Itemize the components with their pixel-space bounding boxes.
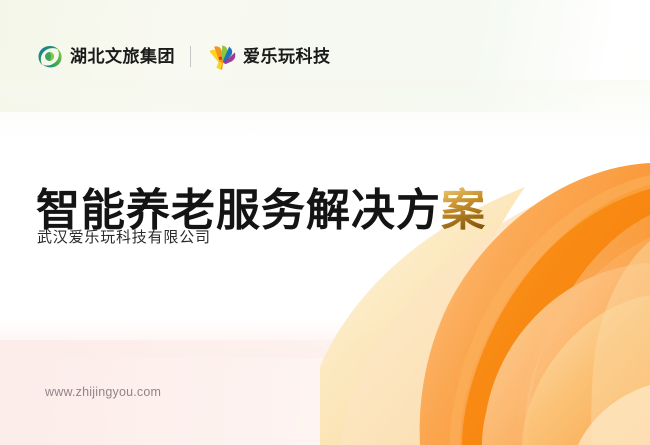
page-title-accent-char: 案 <box>441 186 486 235</box>
hubei-culture-tourism-logo: 湖北文旅集团 <box>36 43 175 70</box>
ailewan-bird-icon <box>206 42 236 70</box>
ailewan-wordmark: 爱乐玩科技 <box>243 48 331 65</box>
hubei-culture-tourism-swoosh-icon <box>36 43 63 70</box>
presentation-slide: 湖北文旅集团 爱乐玩科技 智能养老服务解 <box>0 0 650 445</box>
top-tint-fade <box>0 80 650 140</box>
logo-bar: 湖北文旅集团 爱乐玩科技 <box>36 40 331 72</box>
ailewan-logo: 爱乐玩科技 <box>206 42 331 70</box>
website-url: www.zhijingyou.com <box>45 385 161 399</box>
logo-divider <box>190 46 191 67</box>
hubei-culture-tourism-wordmark: 湖北文旅集团 <box>70 48 175 65</box>
company-subtitle: 武汉爱乐玩科技有限公司 <box>37 226 211 247</box>
